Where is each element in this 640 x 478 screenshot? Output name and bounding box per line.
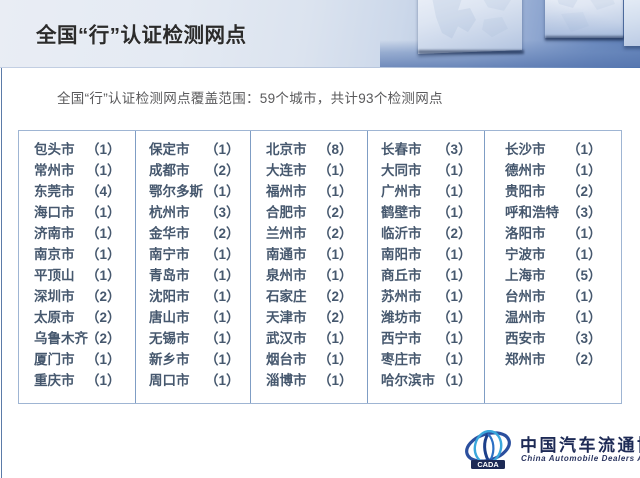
table-row: 广州市（1） [368, 181, 484, 202]
site-count: （1） [318, 181, 352, 202]
table-row: 西安市（3） [485, 328, 621, 349]
city-name: 洛阳市 [505, 223, 567, 244]
site-count: （1） [205, 286, 237, 307]
city-name: 兰州市 [266, 223, 318, 244]
city-name: 鹤壁市 [381, 202, 437, 223]
site-count: （2） [86, 307, 120, 328]
city-name: 重庆市 [34, 370, 86, 391]
city-name: 长春市 [381, 139, 437, 160]
city-name: 贵阳市 [505, 181, 567, 202]
site-count: （1） [86, 139, 120, 160]
city-name: 新乡市 [149, 349, 205, 370]
site-count: （1） [437, 370, 471, 391]
site-count: （1） [86, 202, 120, 223]
coverage-summary-text: 全国“行”认证检测网点覆盖范围：59个城市，共计93个检测网点 [57, 87, 443, 107]
table-column: 北京市（8）大连市（1）福州市（1）合肥市（2）兰州市（2）南通市（1）泉州市（… [250, 131, 367, 403]
site-count: （2） [86, 328, 120, 349]
table-row: 厦门市（1） [19, 349, 135, 370]
city-name: 大连市 [266, 160, 318, 181]
city-name: 深圳市 [34, 286, 86, 307]
city-name: 临沂市 [381, 223, 437, 244]
table-row: 金华市（2） [136, 223, 250, 244]
world-map-texture-icon [418, 0, 522, 54]
site-count: （1） [437, 286, 471, 307]
city-name: 保定市 [149, 139, 205, 160]
city-name: 南京市 [34, 244, 86, 265]
site-count: （3） [567, 202, 601, 223]
city-name: 周口市 [149, 370, 205, 391]
page-title: 全国“行”认证检测网点 [36, 18, 247, 48]
city-name: 西安市 [505, 328, 567, 349]
table-row: 南阳市（1） [368, 244, 484, 265]
table-row: 太原市（2） [19, 307, 135, 328]
site-count: （2） [437, 223, 471, 244]
table-column: 包头市（1）常州市（1）东莞市（4）海口市（1）济南市（1）南京市（1）平顶山（… [19, 131, 135, 403]
decorative-cube-icon [624, 0, 640, 46]
table-row: 平顶山（1） [19, 265, 135, 286]
table-row: 兰州市（2） [251, 223, 367, 244]
table-row: 天津市（2） [251, 307, 367, 328]
site-count: （1） [86, 160, 120, 181]
site-count: （2） [205, 160, 237, 181]
city-name: 太原市 [34, 307, 86, 328]
slide-canvas: 全国“行”认证检测网点 全国“行”认证检测网点覆盖范围：59个城市，共计93个检… [0, 0, 640, 478]
table-row: 南宁市（1） [136, 244, 250, 265]
table-row: 石家庄（2） [251, 286, 367, 307]
site-count: （5） [567, 265, 601, 286]
site-count: （1） [205, 265, 237, 286]
city-name: 济南市 [34, 223, 86, 244]
table-row: 温州市（1） [485, 307, 621, 328]
table-row: 长春市（3） [368, 139, 484, 160]
cube-shadow [418, 50, 524, 54]
site-count: （1） [86, 244, 120, 265]
site-count: （2） [86, 286, 120, 307]
site-count: （1） [567, 244, 601, 265]
city-name: 西宁市 [381, 328, 437, 349]
cube-shadow [545, 36, 625, 40]
table-row: 鹤壁市（1） [368, 202, 484, 223]
table-column: 保定市（1）成都市（2）鄂尔多斯（1）杭州市（3）金华市（2）南宁市（1）青岛市… [135, 131, 250, 403]
city-name: 南通市 [266, 244, 318, 265]
organization-logo: CADA 中国汽车流通协会 China Automobile Dealers A… [464, 426, 630, 472]
site-count: （1） [567, 223, 601, 244]
table-column: 长春市（3）大同市（1）广州市（1）鹤壁市（1）临沂市（2）南阳市（1）商丘市（… [367, 131, 484, 403]
city-name: 天津市 [266, 307, 318, 328]
site-count: （1） [318, 265, 352, 286]
site-count: （2） [567, 349, 601, 370]
table-row: 贵阳市（2） [485, 181, 621, 202]
table-row: 杭州市（3） [136, 202, 250, 223]
city-name: 呼和浩特 [505, 202, 567, 223]
table-row: 呼和浩特（3） [485, 202, 621, 223]
table-row: 无锡市（1） [136, 328, 250, 349]
city-name: 唐山市 [149, 307, 205, 328]
table-row: 南通市（1） [251, 244, 367, 265]
table-row: 长沙市（1） [485, 139, 621, 160]
site-count: （1） [318, 328, 352, 349]
city-name: 长沙市 [505, 139, 567, 160]
detection-sites-table: 包头市（1）常州市（1）东莞市（4）海口市（1）济南市（1）南京市（1）平顶山（… [18, 130, 622, 404]
table-row: 台州市（1） [485, 286, 621, 307]
site-count: （1） [437, 349, 471, 370]
site-count: （1） [205, 328, 237, 349]
site-count: （1） [205, 244, 237, 265]
site-count: （1） [86, 223, 120, 244]
cada-mark-text: CADA [477, 460, 499, 469]
city-name: 厦门市 [34, 349, 86, 370]
site-count: （3） [205, 202, 237, 223]
table-row: 郑州市（2） [485, 349, 621, 370]
site-count: （1） [205, 349, 237, 370]
table-row: 洛阳市（1） [485, 223, 621, 244]
site-count: （1） [318, 370, 352, 391]
site-count: （2） [205, 223, 237, 244]
site-count: （2） [318, 307, 352, 328]
site-count: （2） [318, 286, 352, 307]
city-name: 南宁市 [149, 244, 205, 265]
table-row: 大连市（1） [251, 160, 367, 181]
table-row: 海口市（1） [19, 202, 135, 223]
header-banner: 全国“行”认证检测网点 [0, 0, 640, 68]
site-count: （2） [318, 223, 352, 244]
table-row: 东莞市（4） [19, 181, 135, 202]
decorative-cube-icon [418, 0, 522, 54]
table-row: 南京市（1） [19, 244, 135, 265]
site-count: （1） [86, 349, 120, 370]
city-name: 平顶山 [34, 265, 86, 286]
city-name: 武汉市 [266, 328, 318, 349]
city-name: 大同市 [381, 160, 437, 181]
banner-underline [0, 67, 640, 68]
city-name: 上海市 [505, 265, 567, 286]
site-count: （1） [437, 160, 471, 181]
city-name: 沈阳市 [149, 286, 205, 307]
table-row: 沈阳市（1） [136, 286, 250, 307]
city-name: 郑州市 [505, 349, 567, 370]
city-name: 苏州市 [381, 286, 437, 307]
city-name: 广州市 [381, 181, 437, 202]
site-count: （1） [205, 181, 237, 202]
city-name: 温州市 [505, 307, 567, 328]
city-name: 鄂尔多斯 [149, 181, 205, 202]
city-name: 石家庄 [266, 286, 318, 307]
city-name: 青岛市 [149, 265, 205, 286]
table-row: 哈尔滨市（1） [368, 370, 484, 391]
cada-emblem-icon: CADA [464, 430, 516, 470]
table-row: 临沂市（2） [368, 223, 484, 244]
table-row: 保定市（1） [136, 139, 250, 160]
site-count: （1） [437, 265, 471, 286]
city-name: 东莞市 [34, 181, 86, 202]
table-row: 商丘市（1） [368, 265, 484, 286]
table-row: 包头市（1） [19, 139, 135, 160]
table-row: 周口市（1） [136, 370, 250, 391]
site-count: （1） [86, 265, 120, 286]
table-row: 鄂尔多斯（1） [136, 181, 250, 202]
city-name: 淄博市 [266, 370, 318, 391]
site-count: （1） [86, 370, 120, 391]
table-row: 福州市（1） [251, 181, 367, 202]
city-name: 南阳市 [381, 244, 437, 265]
site-count: （2） [567, 181, 601, 202]
city-name: 合肥市 [266, 202, 318, 223]
table-row: 青岛市（1） [136, 265, 250, 286]
site-count: （3） [567, 328, 601, 349]
city-name: 杭州市 [149, 202, 205, 223]
table-row: 北京市（8） [251, 139, 367, 160]
site-count: （1） [205, 370, 237, 391]
table-row: 常州市（1） [19, 160, 135, 181]
city-name: 无锡市 [149, 328, 205, 349]
city-name: 商丘市 [381, 265, 437, 286]
city-name: 金华市 [149, 223, 205, 244]
left-accent-rule [1, 0, 2, 478]
site-count: （1） [205, 139, 237, 160]
city-name: 宁波市 [505, 244, 567, 265]
site-count: （1） [437, 328, 471, 349]
city-name: 包头市 [34, 139, 86, 160]
site-count: （2） [318, 202, 352, 223]
site-count: （1） [567, 160, 601, 181]
logo-name-cn: 中国汽车流通协会 [520, 431, 640, 456]
table-row: 淄博市（1） [251, 370, 367, 391]
city-name: 潍坊市 [381, 307, 437, 328]
city-name: 成都市 [149, 160, 205, 181]
site-count: （1） [205, 307, 237, 328]
city-name: 福州市 [266, 181, 318, 202]
city-name: 海口市 [34, 202, 86, 223]
city-name: 泉州市 [266, 265, 318, 286]
table-row: 西宁市（1） [368, 328, 484, 349]
site-count: （4） [86, 181, 120, 202]
site-count: （8） [318, 139, 352, 160]
table-row: 合肥市（2） [251, 202, 367, 223]
table-row: 武汉市（1） [251, 328, 367, 349]
table-row: 烟台市（1） [251, 349, 367, 370]
table-row: 枣庄市（1） [368, 349, 484, 370]
table-row: 上海市（5） [485, 265, 621, 286]
site-count: （1） [567, 139, 601, 160]
city-name: 北京市 [266, 139, 318, 160]
table-column: 长沙市（1）德州市（1）贵阳市（2）呼和浩特（3）洛阳市（1）宁波市（1）上海市… [484, 131, 621, 403]
table-row: 成都市（2） [136, 160, 250, 181]
site-count: （1） [437, 181, 471, 202]
table-row: 乌鲁木齐（2） [19, 328, 135, 349]
logo-name-en: China Automobile Dealers Association [521, 454, 640, 463]
table-row: 宁波市（1） [485, 244, 621, 265]
site-count: （1） [318, 244, 352, 265]
table-row: 深圳市（2） [19, 286, 135, 307]
city-name: 台州市 [505, 286, 567, 307]
city-name: 常州市 [34, 160, 86, 181]
table-row: 重庆市（1） [19, 370, 135, 391]
table-row: 济南市（1） [19, 223, 135, 244]
table-row: 潍坊市（1） [368, 307, 484, 328]
table-row: 泉州市（1） [251, 265, 367, 286]
table-row: 大同市（1） [368, 160, 484, 181]
site-count: （1） [318, 160, 352, 181]
city-name: 烟台市 [266, 349, 318, 370]
site-count: （3） [437, 139, 471, 160]
site-count: （1） [437, 244, 471, 265]
site-count: （1） [567, 307, 601, 328]
city-name: 乌鲁木齐 [34, 328, 86, 349]
table-row: 苏州市（1） [368, 286, 484, 307]
table-row: 德州市（1） [485, 160, 621, 181]
table-row: 唐山市（1） [136, 307, 250, 328]
city-name: 哈尔滨市 [381, 370, 437, 391]
site-count: （1） [567, 286, 601, 307]
table-row: 新乡市（1） [136, 349, 250, 370]
city-name: 德州市 [505, 160, 567, 181]
city-name: 枣庄市 [381, 349, 437, 370]
site-count: （1） [437, 307, 471, 328]
site-count: （1） [318, 349, 352, 370]
site-count: （1） [437, 202, 471, 223]
cube-side-shading [545, 0, 623, 38]
